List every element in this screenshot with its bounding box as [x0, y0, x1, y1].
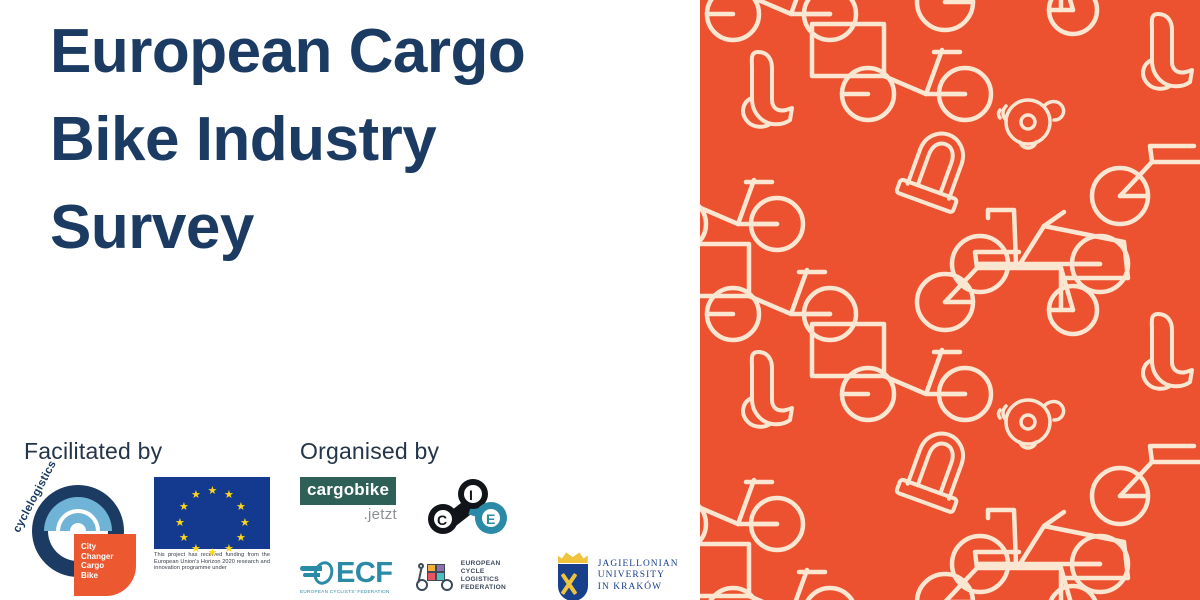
cie-letter-e: E [486, 511, 495, 527]
organised-by-label: Organised by [300, 438, 700, 465]
city-changer-cargo-bike-badge: City Changer Cargo Bike [74, 534, 136, 596]
organised-by-column: Organised by cargobike .jetzt [300, 438, 700, 600]
title-line-3: Survey [50, 184, 670, 272]
cyclelogistics-logo: cyclelogistics City Changer Cargo Bike [24, 477, 144, 595]
facilitated-by-column: Facilitated by [24, 438, 284, 595]
organised-logo-row-2: ECF EUROPEAN CYCLISTS' FEDERATION [300, 551, 700, 600]
eu-flag-icon: ★ ★ ★ ★ ★ ★ ★ ★ ★ ★ ★ ★ [154, 477, 270, 549]
cie-logo: C I E [426, 477, 512, 539]
ecf-logo: ECF EUROPEAN CYCLISTS' FEDERATION [300, 559, 401, 594]
left-content-panel: European Cargo Bike Industry Survey Faci… [0, 0, 700, 600]
cargo-bike-pattern-panel [700, 0, 1200, 600]
cie-letter-i: I [469, 487, 473, 503]
ecf-wing-icon [300, 560, 334, 586]
city-changer-badge-text: City Changer Cargo Bike [81, 542, 113, 580]
jagiellonian-crest-icon [553, 551, 593, 600]
cargo-bike-pattern-svg [700, 0, 1200, 600]
title-line-2: Bike Industry [50, 96, 670, 184]
facilitated-by-label: Facilitated by [24, 438, 284, 465]
cargobike-suffix: .jetzt [300, 506, 404, 523]
cie-inner-i [464, 485, 482, 503]
page-title: European Cargo Bike Industry Survey [50, 8, 670, 272]
cie-letter-c: C [437, 512, 447, 528]
jagiellonian-wordmark: JAGIELLONIAN UNIVERSITY IN KRAKÓW [598, 559, 679, 594]
cargobike-wordmark: cargobike [307, 480, 389, 499]
cargobike-jetzt-logo: cargobike .jetzt [300, 477, 404, 523]
eclf-wordmark: EUROPEAN CYCLE LOGISTICS FEDERATION [461, 560, 506, 592]
title-line-1: European Cargo [50, 8, 670, 96]
eu-funding-block: ★ ★ ★ ★ ★ ★ ★ ★ ★ ★ ★ ★ [154, 477, 272, 572]
eclf-logo: EUROPEAN CYCLE LOGISTICS FEDERATION [415, 560, 539, 592]
cargobike-wordmark-box: cargobike [300, 477, 396, 505]
poster-canvas: European Cargo Bike Industry Survey Faci… [0, 0, 1200, 600]
facilitated-logo-row: cyclelogistics City Changer Cargo Bike ★… [24, 477, 284, 595]
jagiellonian-university-logo: JAGIELLONIAN UNIVERSITY IN KRAKÓW [553, 551, 700, 600]
eclf-cargo-bike-icon [415, 561, 457, 591]
ecf-wordmark: ECF [336, 559, 393, 588]
organised-logo-row-1: cargobike .jetzt C [300, 477, 700, 539]
credits-section: Facilitated by [0, 438, 700, 600]
ecf-subtitle: EUROPEAN CYCLISTS' FEDERATION [300, 589, 401, 594]
